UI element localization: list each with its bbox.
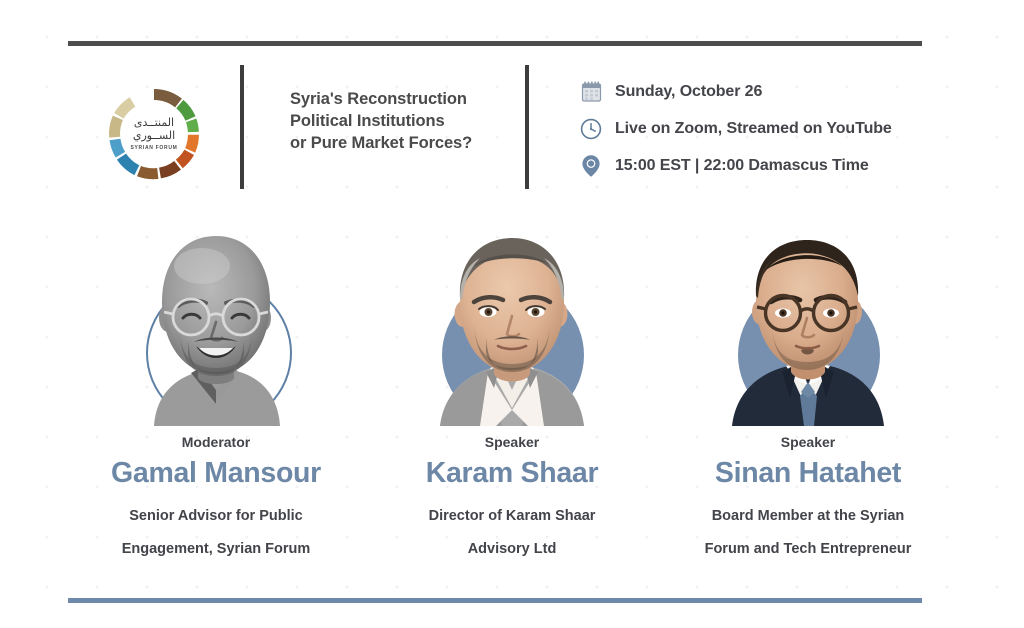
event-date-text: Sunday, October 26 xyxy=(615,83,762,101)
speaker-name: Karam Shaar xyxy=(426,457,599,490)
speaker-role: Moderator xyxy=(182,434,250,450)
calendar-icon xyxy=(576,77,606,107)
event-detail-time: 15:00 EST | 22:00 Damascus Time xyxy=(576,147,922,184)
event-poster: المنتــدى الســوري SYRIAN FORUM Syria's … xyxy=(0,0,1024,628)
poster-header: المنتــدى الســوري SYRIAN FORUM Syria's … xyxy=(68,60,922,192)
event-platform-text: Live on Zoom, Streamed on YouTube xyxy=(615,120,892,138)
event-details-list: Sunday, October 26 Live on Zoom, Streame… xyxy=(576,73,922,184)
event-title-line-1: Syria's Reconstruction xyxy=(290,89,515,111)
speaker-title-line-2: Engagement, Syrian Forum xyxy=(122,533,311,566)
speaker-role: Speaker xyxy=(781,434,835,450)
speaker-card-sinan-hatahet: Speaker Sinan Hatahet Board Member at th… xyxy=(660,222,956,567)
location-pin-icon xyxy=(576,151,606,181)
speaker-role: Speaker xyxy=(485,434,539,450)
portrait-gamal-mansour xyxy=(128,222,304,426)
avatar xyxy=(128,222,304,426)
header-vertical-divider-1 xyxy=(240,65,244,189)
speaker-title-line-1: Board Member at the Syrian xyxy=(705,500,912,533)
speaker-title-line-2: Advisory Ltd xyxy=(429,533,596,566)
speaker-title-line-1: Senior Advisor for Public xyxy=(122,500,311,533)
logo-ring-icon xyxy=(108,88,200,180)
speakers-row: Moderator Gamal Mansour Senior Advisor f… xyxy=(68,222,956,567)
portrait-karam-shaar xyxy=(424,222,600,426)
event-time-text: 15:00 EST | 22:00 Damascus Time xyxy=(615,157,869,175)
speaker-title: Senior Advisor for Public Engagement, Sy… xyxy=(122,500,311,567)
speaker-card-karam-shaar: Speaker Karam Shaar Director of Karam Sh… xyxy=(364,222,660,567)
portrait-sinan-hatahet xyxy=(720,222,896,426)
avatar xyxy=(720,222,896,426)
speaker-title-line-1: Director of Karam Shaar xyxy=(429,500,596,533)
header-vertical-divider-2 xyxy=(525,65,529,189)
speaker-name: Gamal Mansour xyxy=(111,457,321,490)
event-detail-platform: Live on Zoom, Streamed on YouTube xyxy=(576,110,922,147)
event-title-line-3: or Pure Market Forces? xyxy=(290,133,515,155)
syrian-forum-logo: المنتــدى الســوري SYRIAN FORUM xyxy=(104,88,208,184)
clock-icon xyxy=(576,114,606,144)
event-title-line-2: Political Institutions xyxy=(290,111,515,133)
avatar xyxy=(424,222,600,426)
top-divider-rule xyxy=(68,41,922,46)
speaker-name: Sinan Hatahet xyxy=(715,457,901,490)
speaker-title-line-2: Forum and Tech Entrepreneur xyxy=(705,533,912,566)
speaker-card-moderator: Moderator Gamal Mansour Senior Advisor f… xyxy=(68,222,364,567)
event-title: Syria's Reconstruction Political Institu… xyxy=(290,89,515,155)
speaker-title: Director of Karam Shaar Advisory Ltd xyxy=(429,500,596,567)
event-detail-date: Sunday, October 26 xyxy=(576,73,922,110)
bottom-divider-rule xyxy=(68,598,922,603)
speaker-title: Board Member at the Syrian Forum and Tec… xyxy=(705,500,912,567)
